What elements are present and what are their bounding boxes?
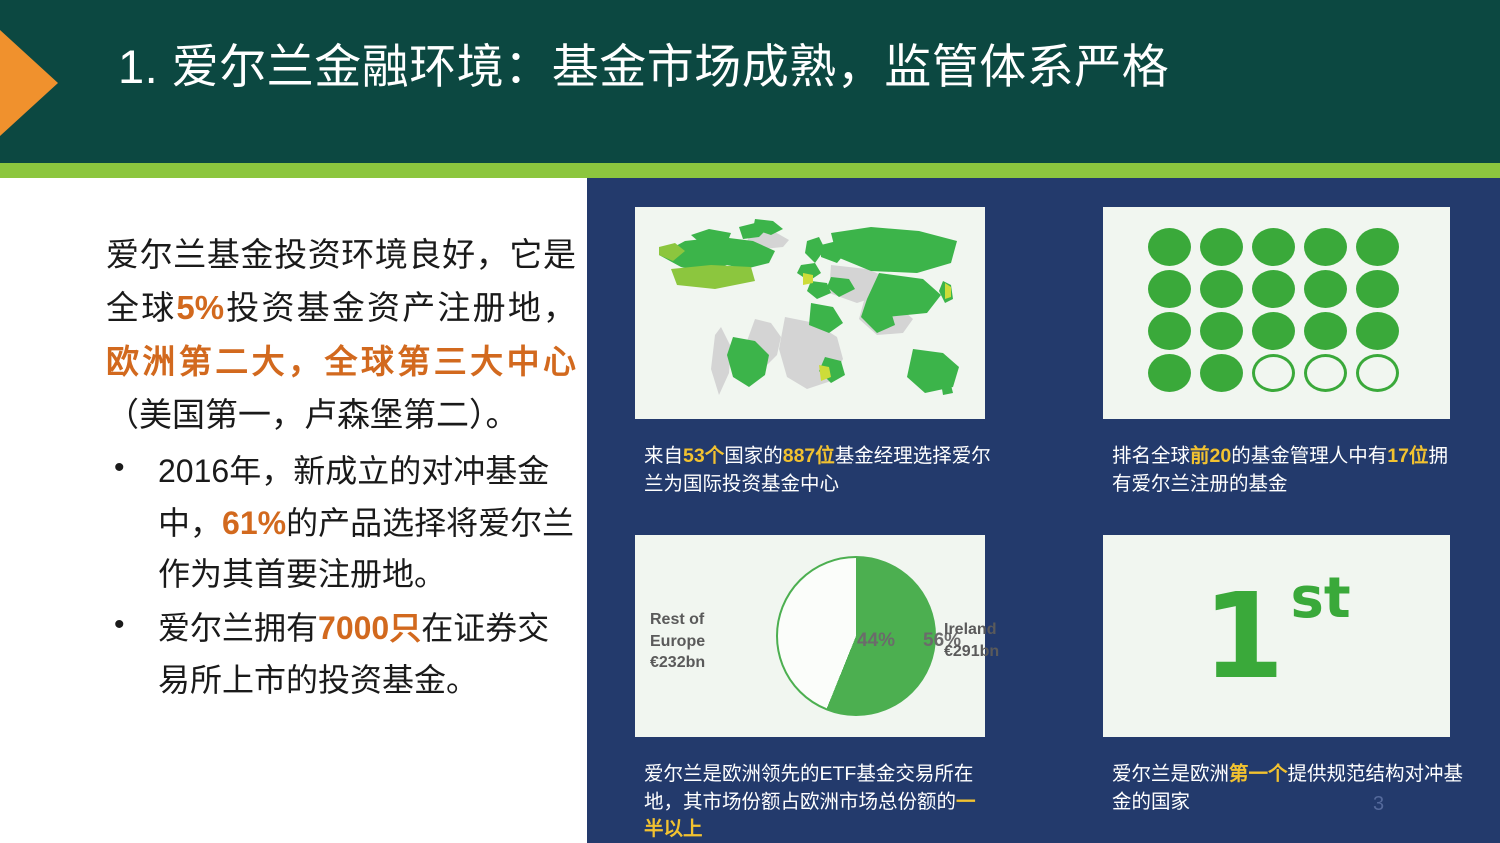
left-text-column: 爱尔兰基金投资环境良好，它是全球5%投资基金资产注册地，欧洲第二大，全球第三大中…	[106, 228, 576, 707]
bullet-1-highlight: 61%	[222, 505, 286, 541]
cap-map-text-2: 国家的	[724, 445, 783, 467]
lead-paragraph: 爱尔兰基金投资环境良好，它是全球5%投资基金资产注册地，欧洲第二大，全球第三大中…	[106, 228, 576, 442]
pie-slice-label-rest: 44%	[857, 628, 895, 654]
caption-dot-grid: 排名全球前20的基金管理人中有17位拥有爱尔兰注册的基金	[1112, 443, 1464, 498]
dot-filled	[1356, 228, 1399, 266]
lead-text-2: 投资基金资产注册地，	[224, 289, 576, 326]
dot-filled	[1148, 354, 1191, 392]
list-item: 2016年，新成立的对冲基金中，61%的产品选择将爱尔兰作为其首要注册地。	[106, 446, 576, 601]
page-number: 3	[1373, 793, 1384, 816]
dot-filled	[1148, 228, 1191, 266]
world-map-icon	[635, 207, 985, 419]
cap-dots-highlight-1: 前20	[1190, 445, 1231, 467]
dot-filled	[1252, 228, 1295, 266]
pie-circle	[776, 556, 936, 716]
pie-legend-ireland-line1: Ireland	[944, 619, 1064, 641]
dot-filled	[1304, 228, 1347, 266]
bullet-2-text-1: 爱尔兰拥有	[158, 610, 318, 646]
dot-hollow	[1252, 354, 1295, 392]
cap-pie-text-1: 爱尔兰是欧洲领先的ETF基金交易所在地，其市场份额占欧洲市场总份额的	[644, 763, 973, 813]
bullet-list: 2016年，新成立的对冲基金中，61%的产品选择将爱尔兰作为其首要注册地。 爱尔…	[106, 446, 576, 707]
pie-legend-rest-of-europe: Rest of Europe €232bn	[650, 609, 760, 674]
pie-legend-ireland: Ireland €291bn	[944, 619, 1064, 662]
lead-highlight-percent: 5%	[176, 289, 224, 326]
cap-dots-highlight-2: 17位	[1387, 445, 1428, 467]
caption-pie-chart: 爱尔兰是欧洲领先的ETF基金交易所在地，其市场份额占欧洲市场总份额的一半以上	[644, 761, 994, 843]
lead-highlight-rank: 欧洲第二大，全球第三大中心	[106, 343, 576, 380]
cap-first-text-1: 爱尔兰是欧洲	[1112, 763, 1229, 785]
pie-chart-icon: 44% 56% Rest of Europe €232bn Ireland €2…	[635, 535, 985, 737]
first-place-number: 1	[1202, 577, 1284, 695]
first-place-icon: 1 st	[1103, 535, 1450, 737]
dot-filled	[1252, 312, 1295, 350]
cap-map-text-1: 来自	[644, 445, 683, 467]
cap-map-highlight-1: 53个	[683, 445, 724, 467]
dot-filled	[1200, 228, 1243, 266]
dot-hollow	[1356, 354, 1399, 392]
dot-filled	[1356, 270, 1399, 308]
lime-divider	[0, 163, 1500, 178]
dot-hollow	[1304, 354, 1347, 392]
dot-filled	[1304, 312, 1347, 350]
pie-legend-rest-line1: Rest of	[650, 609, 760, 631]
cap-first-highlight-1: 第一个	[1229, 763, 1288, 785]
pie-legend-rest-line2: Europe	[650, 631, 760, 653]
cap-dots-text-2: 的基金管理人中有	[1231, 445, 1387, 467]
first-place-suffix: st	[1291, 571, 1351, 627]
dot-filled	[1200, 354, 1243, 392]
pie-legend-ireland-line2: €291bn	[944, 641, 1064, 663]
dot-grid-icon	[1148, 228, 1408, 396]
slide-root: 1. 爱尔兰金融环境：基金市场成熟，监管体系严格 爱尔兰基金投资环境良好，它是全…	[0, 0, 1500, 843]
dot-filled	[1356, 312, 1399, 350]
dot-filled	[1200, 312, 1243, 350]
bullet-2-highlight: 7000只	[318, 610, 421, 646]
cap-map-highlight-2: 887位	[783, 445, 835, 467]
cap-dots-text-1: 排名全球	[1112, 445, 1190, 467]
lead-text-3: （美国第一，卢森堡第二）。	[106, 396, 519, 433]
dot-filled	[1252, 270, 1295, 308]
dot-filled	[1200, 270, 1243, 308]
caption-first-rank: 爱尔兰是欧洲第一个提供规范结构对冲基金的国家	[1112, 761, 1464, 816]
page-title: 1. 爱尔兰金融环境：基金市场成熟，监管体系严格	[118, 40, 1418, 94]
dot-filled	[1304, 270, 1347, 308]
dot-filled	[1148, 270, 1191, 308]
pie-legend-rest-line3: €232bn	[650, 652, 760, 674]
dot-filled	[1148, 312, 1191, 350]
list-item: 爱尔兰拥有7000只在证券交易所上市的投资基金。	[106, 603, 576, 707]
caption-world-map: 来自53个国家的887位基金经理选择爱尔兰为国际投资基金中心	[644, 443, 994, 498]
